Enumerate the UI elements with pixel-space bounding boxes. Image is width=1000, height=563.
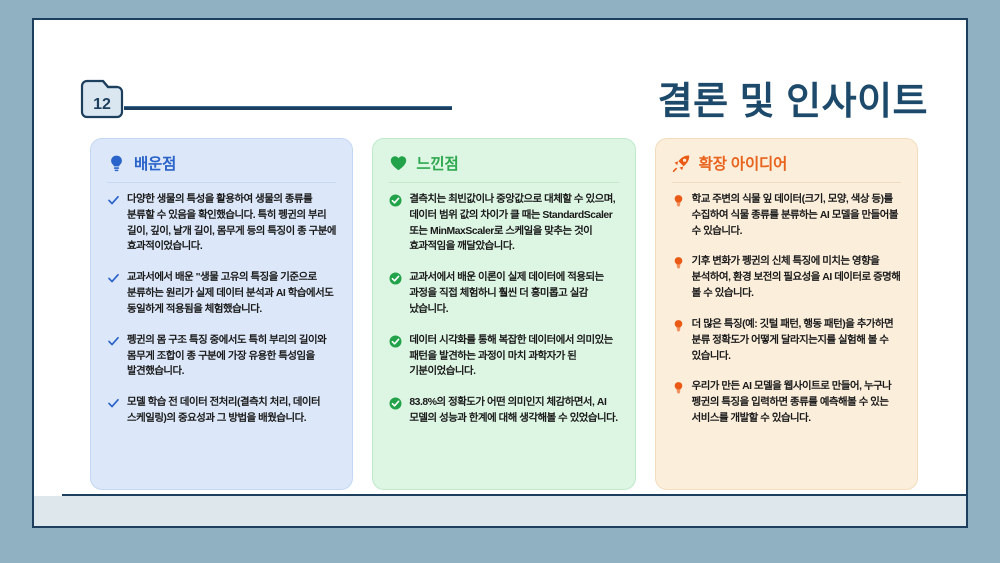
list-item-text: 모델 학습 전 데이터 전처리(결측치 처리, 데이터 스케일링)의 중요성과 … — [127, 395, 336, 427]
lightbulb-bullet-icon — [672, 381, 685, 394]
list-item-text: 우리가 만든 AI 모델을 웹사이트로 만들어, 누구나 펭귄의 특징을 입력하… — [692, 379, 901, 426]
list-item-text: 83.8%의 정확도가 어떤 의미인지 체감하면서, AI 모델의 성능과 한계… — [409, 395, 618, 427]
list-item: 83.8%의 정확도가 어떤 의미인지 체감하면서, AI 모델의 성능과 한계… — [389, 395, 618, 427]
list-item: 다양한 생물의 특성을 활용하여 생물의 종류를 분류할 수 있음을 확인했습니… — [107, 192, 336, 255]
list-item-text: 데이터 시각화를 통해 복잡한 데이터에서 의미있는 패턴을 발견하는 과정이 … — [409, 333, 618, 380]
list-item-text: 기후 변화가 펭귄의 신체 특징에 미치는 영향을 분석하여, 환경 보전의 필… — [692, 254, 901, 301]
rocket-icon — [672, 154, 691, 173]
lightbulb-icon — [107, 154, 126, 173]
card-learned-header: 배운점 — [107, 152, 336, 182]
list-item-text: 펭귄의 몸 구조 특징 중에서도 특히 부리의 길이와 몸무게 조합이 종 구분… — [127, 333, 336, 380]
list-item: 기후 변화가 펭귄의 신체 특징에 미치는 영향을 분석하여, 환경 보전의 필… — [672, 254, 901, 301]
heart-icon — [389, 154, 408, 173]
list-item: 결측치는 최빈값이나 중앙값으로 대체할 수 있으며, 데이터 범위 값의 차이… — [389, 192, 618, 255]
lightbulb-bullet-icon — [672, 319, 685, 332]
list-item-text: 더 많은 특징(예: 깃털 패턴, 행동 패턴)을 추가하면 분류 정확도가 어… — [692, 317, 901, 364]
list-item: 우리가 만든 AI 모델을 웹사이트로 만들어, 누구나 펭귄의 특징을 입력하… — [672, 379, 901, 426]
card-ideas-divider — [672, 182, 901, 183]
check-icon — [107, 272, 120, 285]
check-icon — [107, 194, 120, 207]
list-item: 펭귄의 몸 구조 특징 중에서도 특히 부리의 길이와 몸무게 조합이 종 구분… — [107, 333, 336, 380]
check-circle-icon — [389, 335, 402, 348]
slide-canvas: 12 결론 및 인사이트 배운점 — [32, 18, 968, 528]
header-divider-line — [124, 106, 452, 110]
list-item: 모델 학습 전 데이터 전처리(결측치 처리, 데이터 스케일링)의 중요성과 … — [107, 395, 336, 427]
card-learned-title: 배운점 — [134, 152, 176, 174]
card-felt-title: 느낀점 — [416, 152, 458, 174]
check-circle-icon — [389, 272, 402, 285]
card-ideas-title: 확장 아이디어 — [699, 152, 787, 174]
list-item-text: 학교 주변의 식물 잎 데이터(크기, 모양, 색상 등)를 수집하여 식물 종… — [692, 192, 901, 239]
card-ideas-bullet-list: 학교 주변의 식물 잎 데이터(크기, 모양, 색상 등)를 수집하여 식물 종… — [672, 192, 901, 427]
card-learned-bullet-list: 다양한 생물의 특성을 활용하여 생물의 종류를 분류할 수 있음을 확인했습니… — [107, 192, 336, 427]
lightbulb-bullet-icon — [672, 194, 685, 207]
card-learned-divider — [107, 182, 336, 183]
slide-number-folder-icon: 12 — [79, 78, 125, 120]
check-circle-icon — [389, 397, 402, 410]
card-felt-header: 느낀점 — [389, 152, 618, 182]
check-icon — [107, 335, 120, 348]
insight-cards-container: 배운점 다양한 생물의 특성을 활용하여 생물의 종류를 분류할 수 있음을 확… — [90, 138, 918, 490]
card-ideas-header: 확장 아이디어 — [672, 152, 901, 182]
slide-number-text: 12 — [93, 96, 111, 113]
card-felt: 느낀점 결측치는 최빈값이나 중앙값으로 대체할 수 있으며, 데이터 범위 값… — [372, 138, 635, 490]
list-item-text: 교과서에서 배운 "생물 고유의 특징을 기준으로 분류하는 원리가 실제 데이… — [127, 270, 336, 317]
check-icon — [107, 397, 120, 410]
list-item: 데이터 시각화를 통해 복잡한 데이터에서 의미있는 패턴을 발견하는 과정이 … — [389, 333, 618, 380]
list-item: 학교 주변의 식물 잎 데이터(크기, 모양, 색상 등)를 수집하여 식물 종… — [672, 192, 901, 239]
card-learned: 배운점 다양한 생물의 특성을 활용하여 생물의 종류를 분류할 수 있음을 확… — [90, 138, 353, 490]
list-item-text: 다양한 생물의 특성을 활용하여 생물의 종류를 분류할 수 있음을 확인했습니… — [127, 192, 336, 255]
list-item: 교과서에서 배운 이론이 실제 데이터에 적용되는 과정을 직접 체험하니 훨씬… — [389, 270, 618, 317]
card-ideas: 확장 아이디어 학교 주변의 식물 잎 데이터(크기, 모양, 색상 등)를 수… — [655, 138, 918, 490]
card-felt-divider — [389, 182, 618, 183]
list-item: 교과서에서 배운 "생물 고유의 특징을 기준으로 분류하는 원리가 실제 데이… — [107, 270, 336, 317]
lightbulb-bullet-icon — [672, 256, 685, 269]
page-title: 결론 및 인사이트 — [658, 70, 928, 125]
list-item: 더 많은 특징(예: 깃털 패턴, 행동 패턴)을 추가하면 분류 정확도가 어… — [672, 317, 901, 364]
list-item-text: 교과서에서 배운 이론이 실제 데이터에 적용되는 과정을 직접 체험하니 훨씬… — [409, 270, 618, 317]
card-felt-bullet-list: 결측치는 최빈값이나 중앙값으로 대체할 수 있으며, 데이터 범위 값의 차이… — [389, 192, 618, 427]
list-item-text: 결측치는 최빈값이나 중앙값으로 대체할 수 있으며, 데이터 범위 값의 차이… — [409, 192, 618, 255]
footer-bar — [34, 496, 966, 526]
slide-header: 12 결론 및 인사이트 — [34, 20, 966, 130]
check-circle-icon — [389, 194, 402, 207]
